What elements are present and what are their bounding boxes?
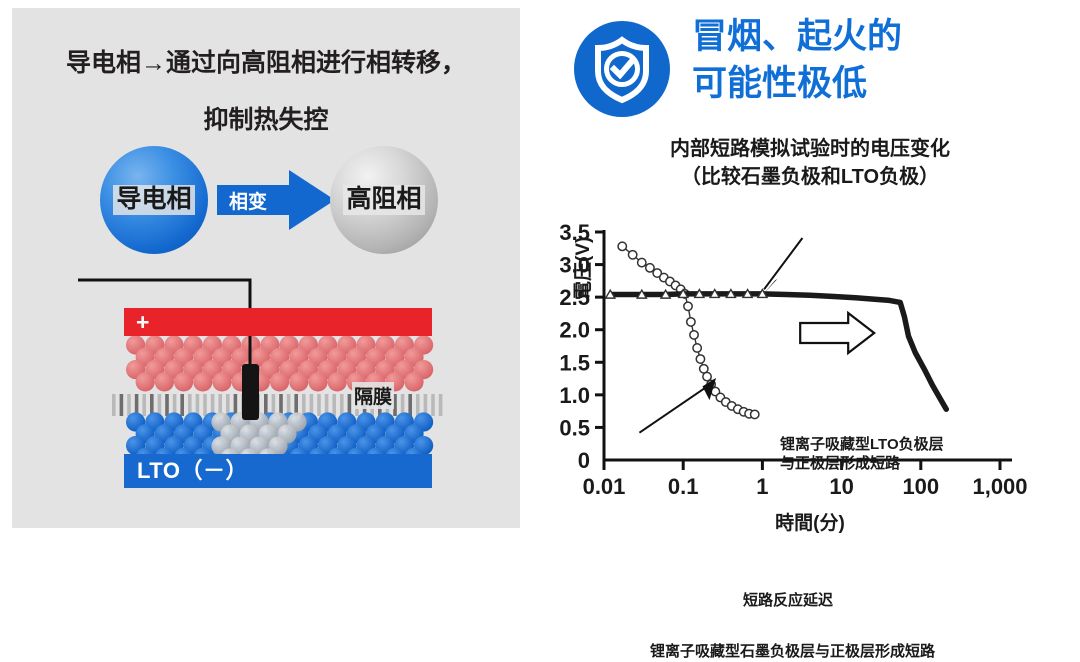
penetration-nail [242, 364, 259, 420]
phase-change-arrow-label: 相变 [229, 187, 267, 214]
svg-text:1,000: 1,000 [972, 474, 1027, 499]
svg-text:10: 10 [829, 474, 853, 499]
annotation-lto-line1: 锂离子吸藏型LTO负极层 [780, 436, 944, 455]
svg-text:0.5: 0.5 [559, 415, 590, 440]
phase-heading-line2: 抑制热失控 [12, 100, 520, 136]
resistive-phase-label: 高阻相 [343, 185, 424, 215]
right-panel-chart: 冒烟、起火的 可能性极低 内部短路模拟试验时的电压变化 （比较石墨负极和LTO负… [540, 0, 1080, 542]
chart-title: 内部短路模拟试验时的电压变化 （比较石墨负极和LTO负极） [540, 136, 1080, 191]
shield-check-icon [574, 21, 670, 117]
svg-text:2.0: 2.0 [559, 318, 590, 343]
chart-plot-area: 00.51.01.52.02.53.03.50.010.11101001,000 [540, 218, 1080, 542]
anode-bar: LTO（－） [124, 454, 432, 488]
svg-text:0.1: 0.1 [668, 474, 699, 499]
conductive-phase-sphere: 导电相 [100, 146, 208, 254]
phase-heading-line1: 导电相→通过向高阻相进行相转移， [12, 43, 520, 79]
battery-cross-section-diagram: + 隔膜 LTO（－） [12, 270, 520, 520]
svg-text:1: 1 [756, 474, 768, 499]
phase-change-arrow: 相变 [217, 168, 335, 232]
annotation-delay: 短路反应延迟 [743, 592, 833, 611]
phase-transition-diagram: 导电相 相变 高阻相 [12, 146, 520, 256]
svg-text:1.5: 1.5 [559, 350, 590, 375]
svg-text:0: 0 [578, 448, 590, 473]
hero-title-line1: 冒烟、起火的 [692, 14, 1072, 61]
hero-title: 冒烟、起火的 可能性极低 [692, 14, 1072, 107]
annotation-lto-line2: 与正极层形成短路 [780, 455, 944, 474]
infographic-root: 导电相→通过向高阻相进行相转移， 抑制热失控 导电相 相变 高阻相 [0, 0, 1080, 542]
resistive-phase-sphere: 高阻相 [330, 146, 438, 254]
cathode-label: + [136, 309, 149, 335]
svg-text:100: 100 [902, 474, 939, 499]
voltage-chart: 00.51.01.52.02.53.03.50.010.11101001,000… [540, 218, 1080, 542]
conductive-phase-label: 导电相 [113, 185, 194, 215]
left-panel-phase-change: 导电相→通过向高阻相进行相转移， 抑制热失控 导电相 相变 高阻相 [12, 8, 520, 528]
annotation-graphite: 锂离子吸藏型石墨负极层与正极层形成短路 [650, 643, 935, 662]
annotation-lto: 锂离子吸藏型LTO负极层 与正极层形成短路 [780, 436, 944, 474]
hero-title-line2: 可能性极低 [692, 61, 1072, 108]
anode-label: LTO（－） [137, 457, 248, 485]
x-axis-label: 時間(分) [540, 508, 1080, 535]
separator-label: 隔膜 [352, 382, 394, 409]
hero-banner: 冒烟、起火的 可能性极低 [574, 16, 1074, 122]
svg-text:0.01: 0.01 [583, 474, 626, 499]
svg-text:1.0: 1.0 [559, 383, 590, 408]
chart-title-line1: 内部短路模拟试验时的电压变化 [540, 136, 1080, 164]
chart-title-line2: （比较石墨负极和LTO负极） [540, 164, 1080, 192]
cathode-bar: + [124, 308, 432, 336]
y-axis-label: 電圧(V) [568, 237, 595, 300]
